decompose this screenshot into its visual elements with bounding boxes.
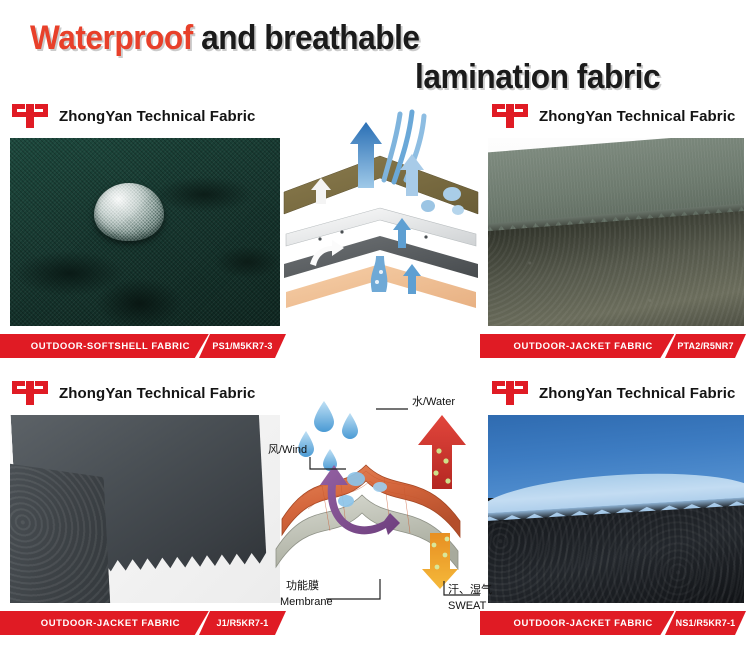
fabric-photo-blue-bonded <box>488 415 744 603</box>
product-label-bar: OUTDOOR-SOFTSHELL FABRIC PS1/M5KR7-3 <box>0 334 290 358</box>
zhongyan-logo-icon <box>490 103 530 129</box>
category-banner: OUTDOOR-JACKET FABRIC <box>0 611 209 635</box>
brand-name: ZhongYan Technical Fabric <box>59 108 255 125</box>
outer-shell-layer <box>284 156 478 214</box>
product-panel-bottom-left[interactable]: ZhongYan Technical Fabric OUTDOOR-JACKET… <box>0 373 290 635</box>
headline-line-1: Waterproof and breathable <box>30 19 420 58</box>
brand-bar: ZhongYan Technical Fabric <box>480 96 750 136</box>
page-title: Waterproof and breathable lamination fab… <box>0 0 750 96</box>
blue-bonded-texture <box>488 415 744 603</box>
water-bead <box>94 183 164 241</box>
label-membrane-cn: 功能膜 <box>286 578 319 592</box>
category-label: OUTDOOR-JACKET FABRIC <box>514 341 653 352</box>
membrane-leader-line <box>326 579 380 599</box>
product-label-bar: OUTDOOR-JACKET FABRIC NS1/R5KR7-1 <box>480 611 750 635</box>
product-panel-top-right[interactable]: ZhongYan Technical Fabric OUTDOOR-JACKET… <box>480 96 750 358</box>
water-bead <box>443 187 461 201</box>
label-water: 水/Water <box>412 395 455 408</box>
water-bead <box>347 472 365 486</box>
product-code: J1/R5KR7-1 <box>216 618 268 628</box>
brand-bar: ZhongYan Technical Fabric <box>480 373 750 413</box>
water-bead <box>421 200 435 212</box>
category-banner: OUTDOOR-JACKET FABRIC <box>480 334 674 358</box>
brand-name: ZhongYan Technical Fabric <box>539 385 735 402</box>
headline-line-2: lamination fabric <box>415 58 660 97</box>
label-sweat-en: SWEAT <box>448 600 487 612</box>
water-drop <box>342 413 358 439</box>
water-drop <box>314 401 334 432</box>
product-showcase-page: Waterproof and breathable lamination fab… <box>0 0 750 650</box>
waterproof-breathable-principle-diagram: 水/Water 风/Wind 功能膜 Membrane 汗、湿气 SWEAT <box>262 373 494 623</box>
water-bead <box>373 482 387 492</box>
sweat-vapor-path <box>371 256 387 292</box>
label-sweat-cn: 汗、湿气 <box>448 582 492 596</box>
category-banner: OUTDOOR-SOFTSHELL FABRIC <box>0 334 209 358</box>
fabric-photo-dark-grey <box>10 415 280 603</box>
product-panel-top-left[interactable]: ZhongYan Technical Fabric OUTDOOR-SOFTSH… <box>0 96 290 358</box>
product-label-bar: OUTDOOR-JACKET FABRIC PTA2/R5NR7 <box>480 334 750 358</box>
category-banner: OUTDOOR-JACKET FABRIC <box>480 611 674 635</box>
folded-corner <box>10 460 111 603</box>
label-wind: 风/Wind <box>268 443 307 456</box>
dark-grey-swatch-texture <box>10 415 280 603</box>
fabric-photo-green-camo <box>10 138 280 326</box>
zhongyan-logo-icon <box>10 103 50 129</box>
black-fleece-backing <box>488 504 744 603</box>
code-banner: NS1/R5KR7-1 <box>665 611 746 635</box>
water-bead <box>338 495 354 507</box>
zhongyan-logo-icon <box>10 380 50 406</box>
product-code: PTA2/R5NR7 <box>677 341 733 351</box>
headline-accent-word: Waterproof <box>30 19 193 57</box>
fabric-photo-grey-softshell <box>488 138 744 326</box>
headline-line-1-rest: and breathable <box>193 19 420 57</box>
label-membrane-en: Membrane <box>280 596 333 608</box>
code-banner: PTA2/R5NR7 <box>665 334 746 358</box>
brand-bar: ZhongYan Technical Fabric <box>0 96 290 136</box>
product-label-bar: OUTDOOR-JACKET FABRIC J1/R5KR7-1 <box>0 611 290 635</box>
product-code: NS1/R5KR7-1 <box>676 618 736 628</box>
brand-name: ZhongYan Technical Fabric <box>59 385 255 402</box>
product-panel-bottom-right[interactable]: ZhongYan Technical Fabric OUTDOOR-JACKET… <box>480 373 750 635</box>
category-label: OUTDOOR-JACKET FABRIC <box>41 618 180 629</box>
brand-name: ZhongYan Technical Fabric <box>539 108 735 125</box>
category-label: OUTDOOR-SOFTSHELL FABRIC <box>31 341 190 352</box>
code-banner: PS1/M5KR7-3 <box>199 334 286 358</box>
product-code: PS1/M5KR7-3 <box>212 341 272 351</box>
grey-softshell-texture <box>488 138 744 326</box>
water-bead <box>452 205 464 215</box>
brand-bar: ZhongYan Technical Fabric <box>0 373 290 413</box>
zhongyan-logo-icon <box>490 380 530 406</box>
fabric-lamination-cross-section-diagram <box>280 96 480 358</box>
water-block-arrow <box>418 415 466 489</box>
category-label: OUTDOOR-JACKET FABRIC <box>514 618 653 629</box>
